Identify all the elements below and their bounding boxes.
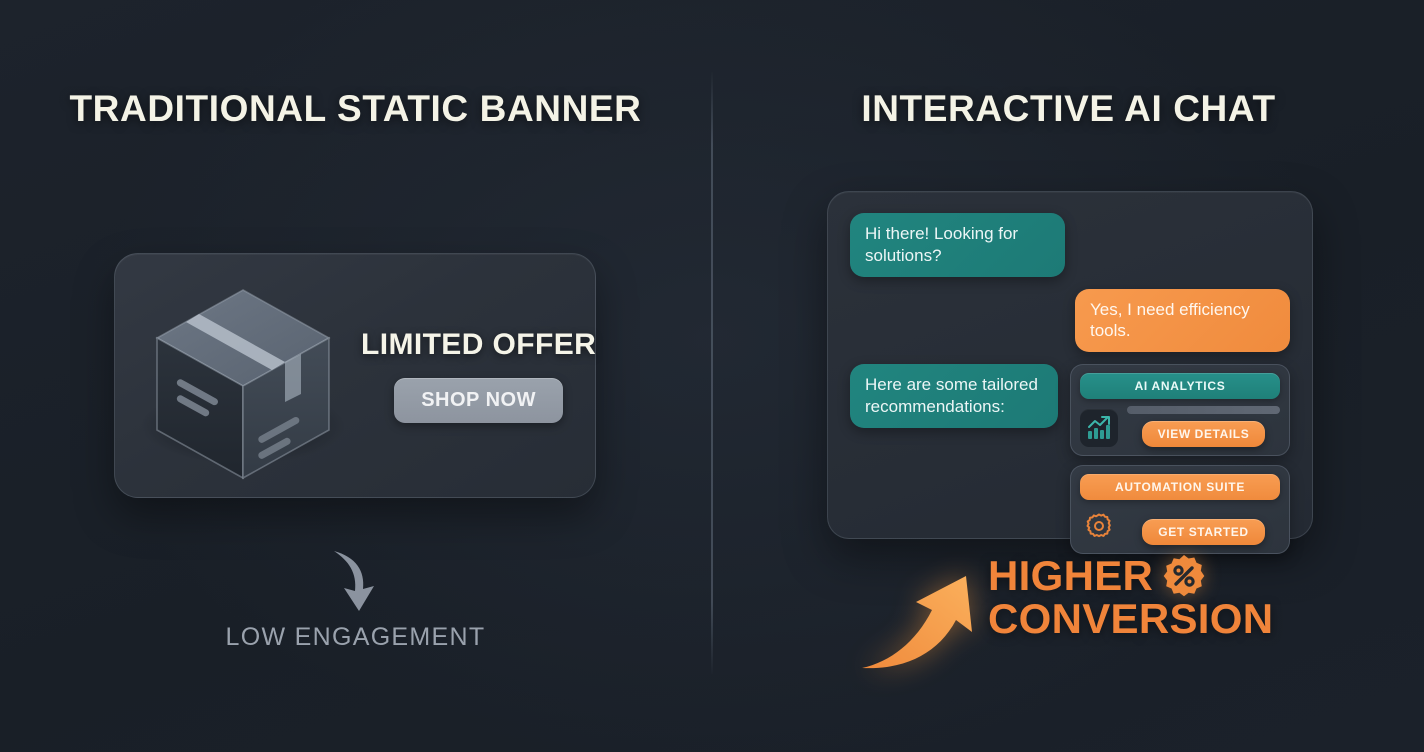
get-started-button[interactable]: GET STARTED	[1142, 519, 1264, 545]
card-title-ai-analytics: AI ANALYTICS	[1080, 373, 1280, 399]
chat-bubble-user: Yes, I need efficiency tools.	[1075, 289, 1290, 353]
view-details-button[interactable]: VIEW DETAILS	[1142, 421, 1266, 447]
recommendation-card-automation-suite[interactable]: AUTOMATION SUITE GET STARTED	[1070, 465, 1290, 554]
chat-bubble-bot: Hi there! Looking for solutions?	[850, 213, 1065, 277]
chat-row-user-reply: Yes, I need efficiency tools.	[850, 289, 1290, 353]
gear-icon	[1080, 507, 1118, 545]
conversion-line-1: HIGHER	[988, 555, 1153, 597]
static-banner-card: LIMITED OFFER SHOP NOW	[114, 253, 596, 498]
left-column-title: TRADITIONAL STATIC BANNER	[0, 88, 711, 130]
recommendation-card-list: AI ANALYTICS	[1070, 364, 1290, 554]
curved-up-arrow-icon	[860, 550, 990, 675]
recommendation-card-ai-analytics[interactable]: AI ANALYTICS	[1070, 364, 1290, 456]
card-title-automation-suite: AUTOMATION SUITE	[1080, 474, 1280, 500]
low-engagement-label: LOW ENGAGEMENT	[0, 623, 711, 652]
higher-conversion-label: HIGHER CONVERSION	[988, 554, 1273, 640]
chat-row-bot-greeting: Hi there! Looking for solutions?	[850, 213, 1290, 277]
package-box-icon	[133, 266, 361, 486]
conversion-line-2: CONVERSION	[988, 598, 1273, 640]
ai-chat-panel: Hi there! Looking for solutions? Yes, I …	[827, 191, 1313, 539]
shop-now-button[interactable]: SHOP NOW	[394, 378, 563, 423]
chat-bubble-bot-recommendations: Here are some tailored recommendations:	[850, 364, 1058, 428]
right-column-title: INTERACTIVE AI CHAT	[713, 88, 1424, 130]
card-placeholder-bar	[1127, 406, 1280, 414]
percent-starburst-badge-icon	[1162, 554, 1206, 598]
banner-text-block: LIMITED OFFER SHOP NOW	[361, 328, 610, 423]
chat-row-recommendations: Here are some tailored recommendations: …	[850, 364, 1290, 554]
column-divider	[711, 72, 713, 674]
comparison-infographic: TRADITIONAL STATIC BANNER	[0, 0, 1424, 752]
bar-chart-trend-up-icon	[1080, 409, 1118, 447]
curved-down-arrow-icon	[318, 545, 390, 617]
higher-conversion-block: HIGHER CONVERSION	[860, 550, 1280, 675]
banner-headline: LIMITED OFFER	[361, 328, 596, 362]
